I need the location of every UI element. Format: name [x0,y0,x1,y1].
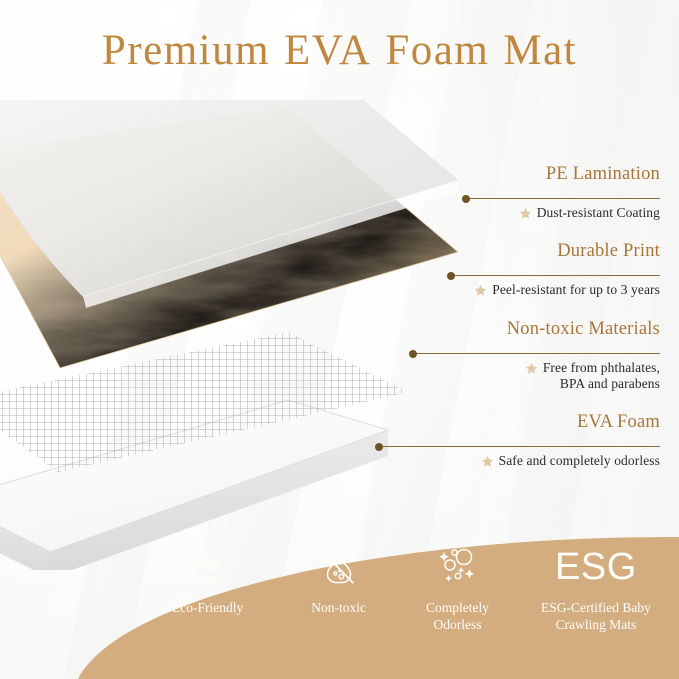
badge-caption: ESG-Certified Baby Crawling Mats [541,600,651,634]
callout-subtext-row: Dust-resistant Coating [519,205,660,221]
badge-caption: Eco-Friendly [172,600,243,617]
badge-esg-certified: ESG ESG-Certified Baby Crawling Mats [541,541,651,634]
callout-rule [450,275,660,276]
badge-caption: Completely Odorless [426,600,489,634]
hand-plant-icon [185,541,231,593]
title-word-2: EVA [284,27,371,74]
esg-wordmark: ESG [555,541,637,593]
badge-eco-friendly: Eco-Friendly [172,541,243,617]
callout-subtext-row: Safe and completely odorless [481,453,660,469]
infographic-canvas: PremiumEVAFoamMat [0,0,679,679]
star-icon [474,284,487,297]
no-flask-icon [317,541,361,593]
star-icon [519,207,532,220]
callout-heading: Durable Print [557,241,660,262]
callout-dot-icon [409,350,417,358]
page-title: PremiumEVAFoamMat [0,26,679,75]
callout-subtext: Safe and completely odorless [499,453,660,469]
benefits-list: Eco-Friendly Non-toxic [0,519,679,679]
star-icon [525,362,538,375]
callout-subtext-row: Free from phthalates, BPA and parabens [525,360,660,393]
sparkles-icon [433,541,481,593]
callout-subtext: Free from phthalates, BPA and parabens [543,360,660,393]
callout-subtext-row: Peel-resistant for up to 3 years [474,282,660,298]
benefits-band: Eco-Friendly Non-toxic [0,519,679,679]
badge-non-toxic: Non-toxic [311,541,366,617]
star-icon [481,455,494,468]
product-illustration [0,100,458,570]
callout-dot-icon [375,443,383,451]
callout-subtext: Dust-resistant Coating [537,205,660,221]
title-word-4: Mat [503,27,577,74]
title-word-1: Premium [102,27,270,74]
badge-caption: Non-toxic [311,600,366,617]
callout-rule [378,446,660,447]
title-word-3: Foam [385,27,489,74]
callout-heading: EVA Foam [577,412,660,433]
callout-heading: PE Lamination [546,164,660,185]
badge-completely-odorless: Completely Odorless [426,541,489,634]
callout-dot-icon [462,195,470,203]
callout-dot-icon [447,272,455,280]
callout-rule [412,353,660,354]
callout-subtext: Peel-resistant for up to 3 years [492,282,660,298]
callout-heading: Non-toxic Materials [507,319,660,340]
callout-rule [465,198,660,199]
